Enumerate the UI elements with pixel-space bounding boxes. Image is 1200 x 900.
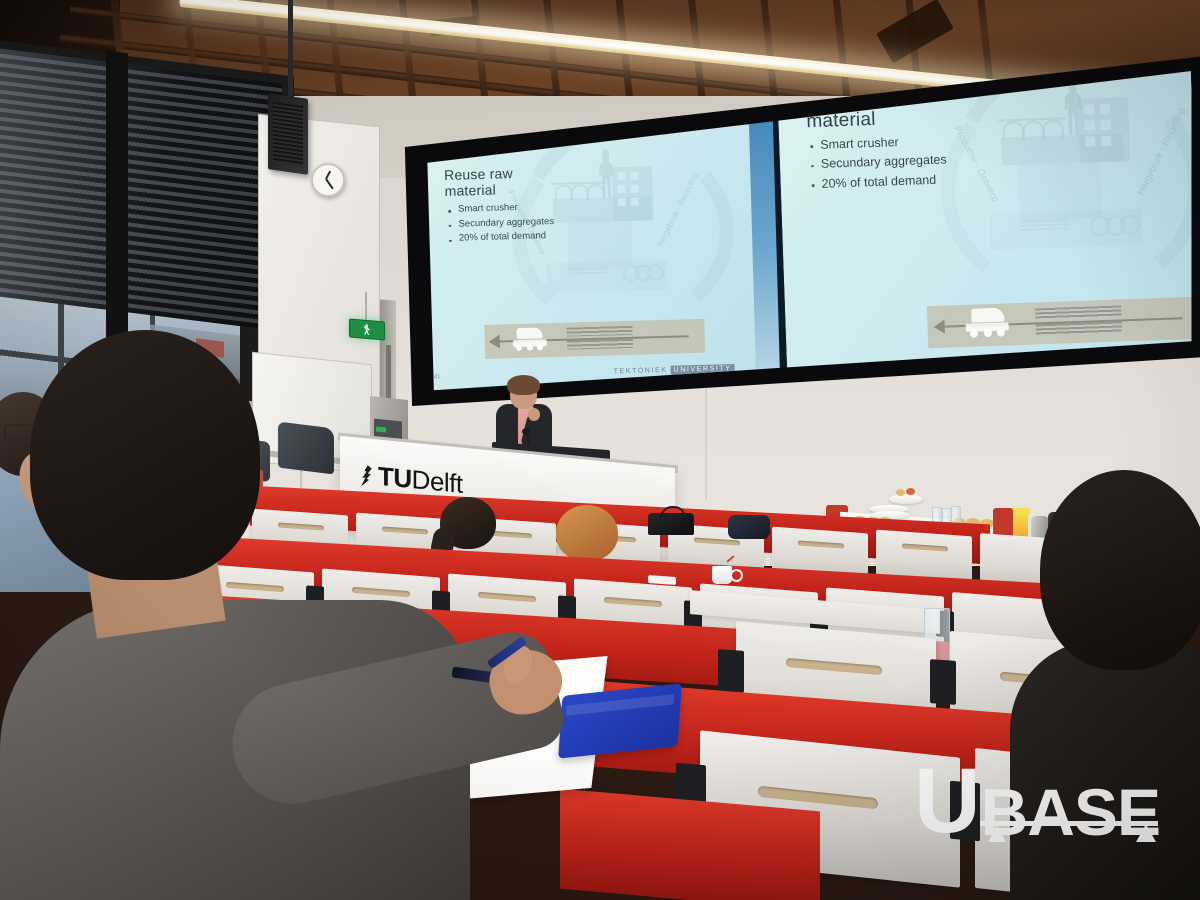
logo-tu: TU	[378, 461, 412, 494]
diagram-window	[1100, 104, 1110, 114]
window-blinds-light	[0, 49, 282, 332]
serving-platter	[889, 494, 923, 504]
banner-text-blur	[566, 326, 632, 337]
slide-bullet-list: Smart crusher Secundary aggregates 20% o…	[809, 131, 948, 194]
screenshare-toolbar-right[interactable]: You are screen sharing Stop Share	[996, 56, 1101, 61]
pastry	[906, 488, 915, 495]
backpack	[728, 515, 770, 539]
slide-title-line2: material	[444, 182, 513, 200]
running-man-icon	[364, 324, 371, 336]
stop-icon	[640, 116, 643, 119]
ubase-support-left-icon	[988, 826, 1006, 842]
diagram-window	[618, 198, 626, 206]
pause-icon	[629, 117, 632, 120]
av-rack-pole	[386, 345, 391, 405]
diagram-window	[630, 185, 638, 193]
diagram-window	[1085, 136, 1095, 146]
foreground-right-head	[1040, 470, 1200, 670]
diagram-label-gebruik: Gebruik	[1050, 56, 1096, 61]
play-icon	[1000, 56, 1003, 57]
diagram-window	[1084, 104, 1094, 114]
projection-screen: Gebruik Productie - Ontwerp Hergebruik -…	[400, 56, 1200, 406]
presenter-hair	[507, 375, 540, 395]
speaker-mount	[288, 0, 293, 100]
diagram-window	[617, 172, 625, 180]
coffee-mug	[712, 566, 732, 584]
ubase-watermark: U BASE	[914, 766, 1160, 838]
stop-share-button[interactable]: Stop Share	[1061, 56, 1100, 59]
foreground-person-head	[30, 330, 260, 580]
diagram-window	[631, 198, 639, 206]
screenshare-status-label: You are screen sharing	[580, 116, 626, 122]
diagram-arch	[1023, 120, 1045, 140]
diagram-texture	[569, 268, 607, 277]
bag	[278, 422, 334, 475]
ubase-support-right-icon	[1136, 824, 1156, 842]
diagram-texture	[1020, 219, 1068, 231]
audience-head	[556, 505, 618, 561]
footer-brand: TEKTONIEK	[614, 367, 668, 376]
diagram-arch	[1043, 119, 1065, 139]
participant-name-badge: Talking: Marije van den Assem	[738, 85, 796, 98]
lecture-hall-photo: Gebruik Productie - Ontwerp Hergebruik -…	[0, 0, 1200, 900]
desk-clamp	[718, 649, 744, 693]
slide-page-number: 41	[434, 374, 441, 380]
av-rack-indicator	[376, 426, 386, 432]
diagram-arch	[1003, 121, 1025, 141]
truck-icon	[510, 327, 551, 352]
diagram-window	[630, 172, 638, 180]
banner-text-blur	[567, 339, 633, 350]
slide-bullet-list: Smart crusher Secundary aggregates 20% o…	[447, 200, 555, 247]
pastry	[896, 489, 905, 496]
slide-title: Reuse raw material	[444, 166, 514, 199]
diagram-arch	[586, 184, 604, 200]
transport-arrow-head	[933, 320, 944, 334]
screenshare-status: You are screen sharing	[996, 56, 1062, 61]
flame-icon	[360, 464, 375, 487]
diagram-window	[1085, 120, 1095, 130]
exit-sign	[349, 318, 385, 340]
exit-sign-rod	[365, 292, 367, 322]
diagram-window	[617, 185, 625, 193]
ubase-letters-base: BASE	[981, 787, 1160, 838]
diagram-window	[1101, 120, 1111, 130]
screenshare-status-label: You are screen sharing	[1006, 56, 1057, 58]
speaker-grille	[273, 102, 303, 166]
slide-bullet: 20% of total demand	[448, 229, 555, 247]
ubase-beam	[980, 821, 1158, 826]
mug-handle	[730, 569, 743, 582]
ubase-letter-u: U	[914, 766, 978, 838]
presenter-hand	[528, 408, 540, 421]
tu-delft-wordmark: TUDelft	[378, 465, 463, 497]
microphone-head	[522, 428, 531, 435]
diagram-window	[1101, 136, 1111, 146]
truck-icon	[963, 307, 1014, 339]
play-icon	[574, 118, 577, 121]
desk-clamp	[930, 659, 956, 705]
